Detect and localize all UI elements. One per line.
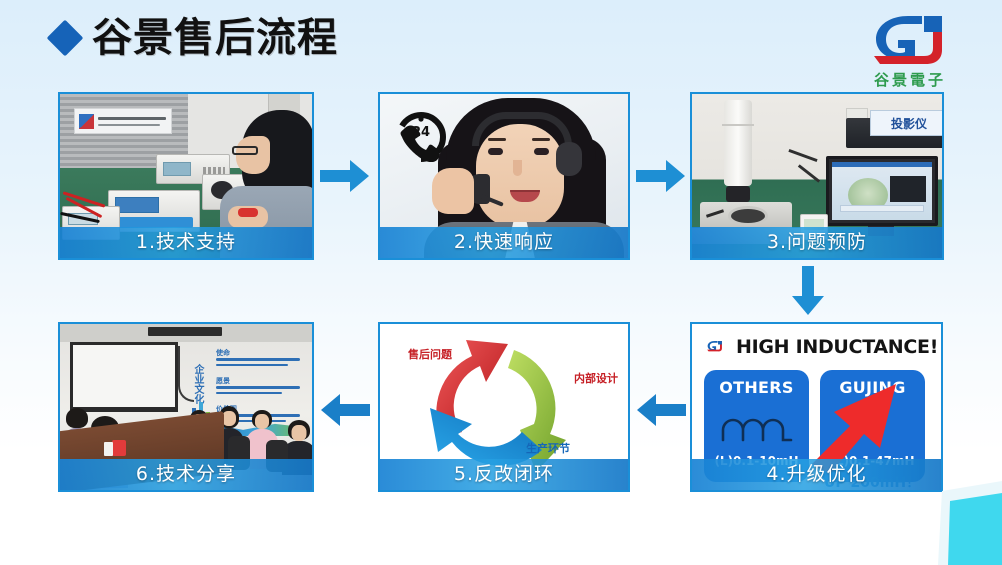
cycle-label-1: 售后问题 bbox=[408, 346, 452, 362]
step-card-1[interactable]: 1.技术支持 bbox=[58, 92, 314, 260]
step-caption-2: 2.快速响应 bbox=[380, 227, 628, 258]
slide-header: 谷景售后流程 谷景電子 bbox=[0, 0, 1002, 90]
company-sign bbox=[74, 108, 172, 134]
arrow-4-5 bbox=[636, 392, 686, 428]
step-card-4[interactable]: HIGH INDUCTANCE! OTHERS (L)0.1-10mH GUJI… bbox=[690, 322, 943, 492]
arrow-5-6 bbox=[320, 392, 370, 428]
step-card-2[interactable]: 24 2.快速响应 bbox=[378, 92, 630, 260]
culture-item-2: 愿景 bbox=[216, 376, 230, 386]
logo-mark-icon bbox=[850, 10, 970, 68]
compare-card-others-name: OTHERS bbox=[704, 378, 809, 397]
coil-icon bbox=[719, 414, 795, 447]
step-caption-3: 3.问题预防 bbox=[692, 227, 942, 258]
step-caption-6: 6.技术分享 bbox=[60, 459, 312, 490]
title-text: 谷景售后流程 bbox=[92, 18, 338, 58]
company-logo: 谷景電子 bbox=[850, 10, 970, 88]
diamond-icon bbox=[47, 20, 84, 57]
monitor bbox=[826, 156, 938, 226]
arrow-3-4 bbox=[790, 266, 826, 316]
step-caption-1: 1.技术支持 bbox=[60, 227, 312, 258]
logo-mark-small-icon bbox=[702, 334, 728, 360]
arrow-2-3 bbox=[636, 158, 686, 194]
step-card-3[interactable]: 投影仪 3.问题预防 bbox=[690, 92, 944, 260]
page-title: 谷景售后流程 bbox=[52, 18, 338, 58]
step-card-5[interactable]: 售后问题 内部设计 生产环节 5.反改闭环 bbox=[378, 322, 630, 492]
culture-item-1: 使命 bbox=[216, 348, 230, 358]
projector-label: 投影仪 bbox=[870, 110, 942, 136]
logo-subtext: 谷景電子 bbox=[850, 69, 970, 90]
step-caption-5: 5.反改闭环 bbox=[380, 459, 628, 490]
cycle-label-2: 内部设计 bbox=[574, 370, 618, 386]
infographic-headline: HIGH INDUCTANCE! bbox=[736, 336, 938, 358]
arrow-1-2 bbox=[320, 158, 370, 194]
corner-decoration bbox=[932, 475, 1002, 565]
step-caption-4: 4.升级优化 bbox=[692, 459, 941, 490]
culture-wall-title: 企业文化 bbox=[190, 364, 205, 404]
svg-text:24: 24 bbox=[412, 125, 430, 140]
step-card-6[interactable]: 企业文化 使命 愿景 价值观 bbox=[58, 322, 314, 492]
cycle-label-3: 生产环节 bbox=[526, 440, 570, 456]
phone-24h-icon: 24 bbox=[396, 112, 446, 162]
